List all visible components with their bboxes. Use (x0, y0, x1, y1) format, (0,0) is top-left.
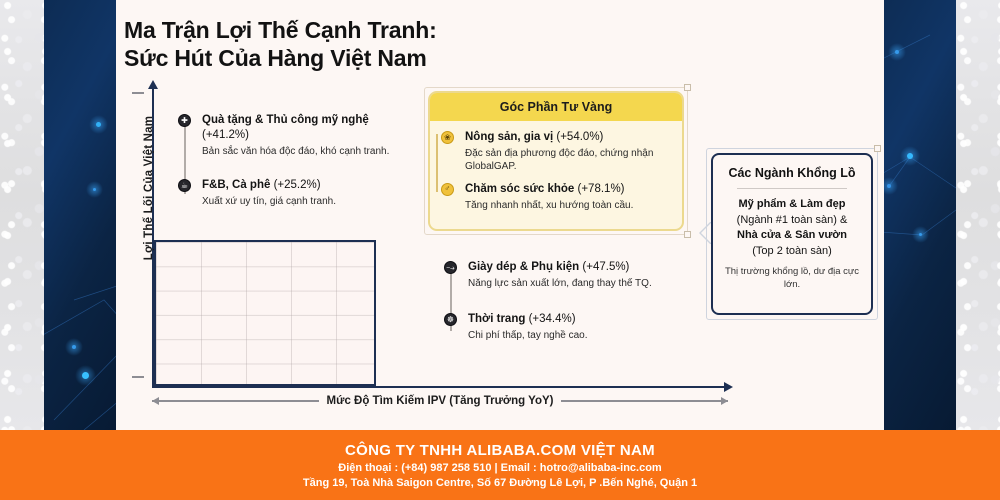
list-item-percent: (+78.1%) (578, 183, 625, 195)
page-title: Ma Trận Lợi Thế Cạnh Tranh: Sức Hút Của … (124, 16, 644, 72)
health-icon: ♂ (441, 183, 454, 196)
giant-industries-body: Mỹ phẩm & Làm đẹp (Ngành #1 toàn sàn) & … (723, 197, 861, 259)
lower-left-quadrant-grid (154, 240, 376, 386)
title-line-1: Ma Trận Lợi Thế Cạnh Tranh: (124, 17, 437, 43)
list-item-percent: (+41.2%) (202, 129, 249, 141)
footer-contact: Điện thoại : (+84) 987 258 510 | Email :… (338, 462, 661, 474)
giant-industries-box[interactable]: Các Ngành Khổng Lồ Mỹ phẩm & Làm đẹp (Ng… (711, 153, 873, 315)
fashion-icon: ☸ (444, 313, 457, 326)
list-item-name: Giày dép & Phụ kiện (468, 261, 579, 273)
x-axis-left-rule (152, 400, 319, 402)
list-item-description: Năng lực sản xuất lớn, đang thay thế TQ. (468, 277, 689, 290)
list-item-description: Chi phí thấp, tay nghề cao. (468, 329, 689, 342)
x-axis-line (152, 386, 728, 388)
list-item-name: Chăm sóc sức khỏe (465, 183, 574, 195)
glow-dot (82, 372, 89, 379)
list-item-title: Giày dép & Phụ kiện (+47.5%) (468, 260, 689, 275)
title-line-2: Sức Hút Của Hàng Việt Nam (124, 44, 644, 72)
glow-dot (93, 188, 96, 191)
list-item-title: Nông sản, gia vị (+54.0%) (465, 130, 671, 145)
background-texture-right (956, 0, 1000, 430)
glow-dot (72, 345, 76, 349)
x-axis-right-rule (561, 400, 728, 402)
giant-line-1: Mỹ phẩm & Làm đẹp (739, 198, 846, 210)
list-item-percent: (+47.5%) (582, 261, 629, 273)
item-connector-line (436, 134, 438, 192)
list-item-name: Thời trang (468, 313, 525, 325)
list-item-percent: (+54.0%) (556, 131, 603, 143)
coffee-icon: ☕ (178, 179, 191, 192)
glow-dot (96, 122, 101, 127)
glow-dot (919, 233, 922, 236)
list-item[interactable]: ♂ Chăm sóc sức khỏe (+78.1%) Tăng nhanh … (441, 182, 671, 212)
golden-quadrant-body: ❀ Nông sản, gia vị (+54.0%) Đặc sản địa … (430, 121, 682, 212)
list-item-title: Chăm sóc sức khỏe (+78.1%) (465, 182, 671, 197)
background-tech-panel-left (44, 0, 120, 430)
lower-right-quadrant-group: ⤍ Giày dép & Phụ kiện (+47.5%) Năng lực … (444, 260, 689, 343)
list-item-description: Đặc sản địa phương độc đáo, chứng nhận G… (465, 147, 671, 174)
leaf-icon: ❀ (441, 131, 454, 144)
list-item-percent: (+34.4%) (529, 313, 576, 325)
list-item-description: Tăng nhanh nhất, xu hướng toàn cầu. (465, 199, 671, 212)
selection-handle-top-right[interactable] (684, 84, 691, 91)
upper-left-quadrant-group: ✚ Quà tặng & Thủ công mỹ nghệ (+41.2%) B… (178, 113, 408, 209)
list-item-title: Thời trang (+34.4%) (468, 312, 689, 327)
list-item-name: F&B, Cà phê (202, 179, 270, 191)
giant-line-2: (Ngành #1 toàn sàn) & (737, 214, 848, 226)
footer-address: Tầng 19, Toà Nhà Saigon Centre, Số 67 Đư… (303, 477, 697, 489)
list-item-name: Nông sản, gia vị (465, 131, 553, 143)
list-item-description: Bản sắc văn hóa độc đáo, khó cạnh tranh. (202, 145, 408, 158)
list-item-description: Xuất xứ uy tín, giá cạnh tranh. (202, 195, 408, 208)
glow-dot (887, 184, 891, 188)
footer-bar: CÔNG TY TNHH ALIBABA.COM VIỆT NAM Điện t… (0, 430, 1000, 500)
y-axis-tick (132, 376, 144, 378)
glow-dot (895, 50, 899, 54)
gift-icon: ✚ (178, 114, 191, 127)
selection-handle-top-right[interactable] (874, 145, 881, 152)
glow-dot (907, 153, 913, 159)
background-tech-panel-right (880, 0, 956, 430)
list-item-percent: (+25.2%) (274, 179, 321, 191)
giant-line-4: (Top 2 toàn sàn) (752, 245, 832, 257)
list-item[interactable]: ❀ Nông sản, gia vị (+54.0%) Đặc sản địa … (441, 130, 671, 174)
list-item[interactable]: ✚ Quà tặng & Thủ công mỹ nghệ (+41.2%) B… (178, 113, 408, 158)
list-item-title: Quà tặng & Thủ công mỹ nghệ (+41.2%) (202, 113, 408, 143)
background-texture-left (0, 0, 44, 430)
x-axis-label-group: Mức Độ Tìm Kiếm IPV (Tăng Trưởng YoY) (152, 395, 728, 407)
golden-quadrant-box[interactable]: Góc Phần Tư Vàng ❀ Nông sản, gia vị (+54… (428, 91, 684, 231)
selection-handle-bottom-right[interactable] (684, 231, 691, 238)
giant-industries-subtext: Thị trường khổng lồ, dư địa cực lớn. (723, 266, 861, 292)
x-axis-label: Mức Độ Tìm Kiếm IPV (Tăng Trưởng YoY) (327, 395, 554, 407)
infographic-card: Ma Trận Lợi Thế Cạnh Tranh: Sức Hút Của … (116, 0, 884, 430)
divider (737, 188, 847, 189)
network-lines-right (880, 0, 956, 430)
golden-quadrant-header: Góc Phần Tư Vàng (430, 93, 682, 121)
footer-company-name: CÔNG TY TNHH ALIBABA.COM VIỆT NAM (345, 442, 655, 459)
list-item[interactable]: ⤍ Giày dép & Phụ kiện (+47.5%) Năng lực … (444, 260, 689, 290)
giant-line-3: Nhà cửa & Sân vườn (737, 229, 847, 241)
shoe-icon: ⤍ (444, 261, 457, 274)
giant-industries-title: Các Ngành Khổng Lồ (723, 166, 861, 180)
list-item[interactable]: ☕ F&B, Cà phê (+25.2%) Xuất xứ uy tín, g… (178, 178, 408, 208)
list-item-title: F&B, Cà phê (+25.2%) (202, 178, 408, 193)
list-item-name: Quà tặng & Thủ công mỹ nghệ (202, 114, 369, 126)
list-item[interactable]: ☸ Thời trang (+34.4%) Chi phí thấp, tay … (444, 312, 689, 342)
slide-canvas: Ma Trận Lợi Thế Cạnh Tranh: Sức Hút Của … (0, 0, 1000, 500)
